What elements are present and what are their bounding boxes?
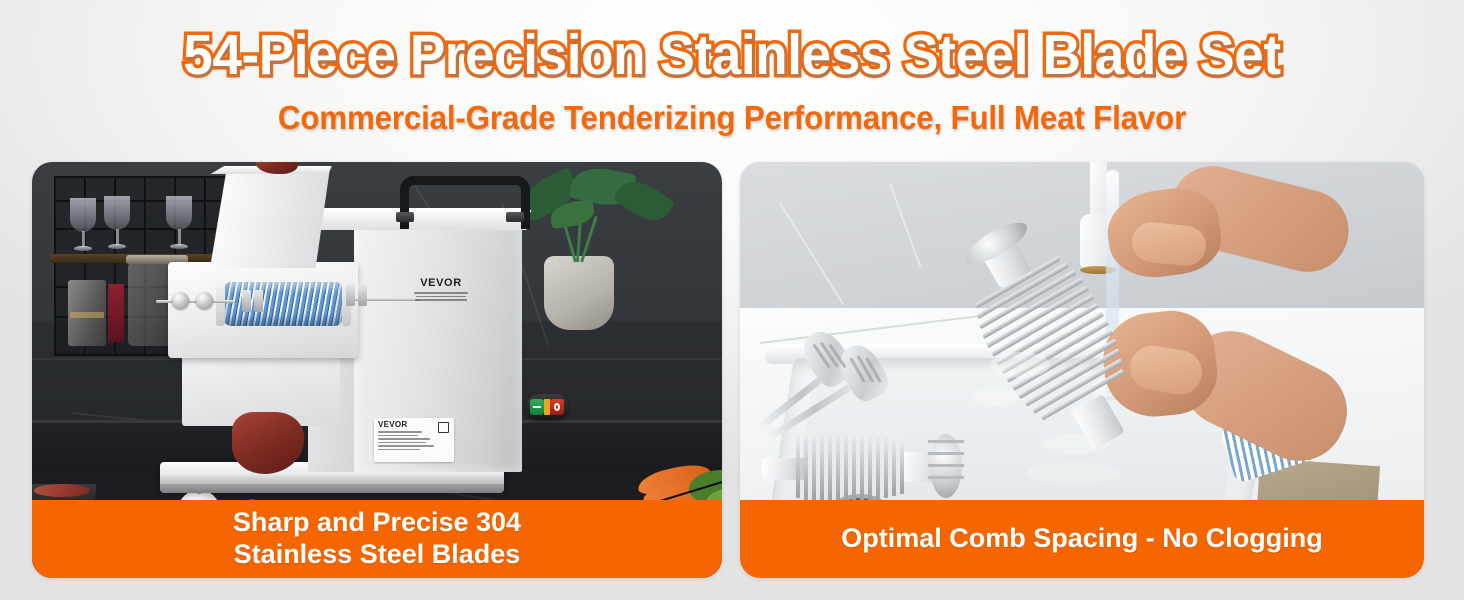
spec-label: VEVOR — [374, 418, 454, 462]
meat-tenderizer-machine: VEVOR VEVOR — [158, 166, 628, 526]
caption-left-line2: Stainless Steel Blades — [234, 539, 521, 569]
power-off-button[interactable] — [550, 399, 564, 415]
power-on-button[interactable] — [530, 399, 544, 415]
wine-glass — [104, 196, 130, 252]
caption-right: Optimal Comb Spacing - No Clogging — [740, 500, 1424, 578]
page-title: 54-Piece Precision Stainless Steel Blade… — [183, 26, 1280, 86]
certification-icon — [438, 422, 449, 433]
page-subtitle: Commercial-Grade Tenderizing Performance… — [37, 99, 1428, 137]
feed-hopper — [210, 168, 330, 268]
wine-glass — [70, 198, 96, 254]
power-switch[interactable] — [526, 394, 568, 419]
storage-tin — [68, 280, 106, 346]
caption-left-line1: Sharp and Precise 304 — [233, 507, 521, 537]
adjust-knob[interactable] — [172, 292, 189, 309]
feature-panel-right: Optimal Comb Spacing - No Clogging — [740, 162, 1424, 578]
feature-panel-left: VEVOR VEVOR — [32, 162, 722, 578]
brand-logo: VEVOR — [410, 278, 472, 303]
caption-left: Sharp and Precise 304 Stainless Steel Bl… — [32, 500, 722, 578]
blade-roller-on-counter — [762, 420, 992, 510]
brand-name: VEVOR — [410, 278, 472, 289]
caption-right-line1: Optimal Comb Spacing - No Clogging — [841, 523, 1322, 555]
adjust-knob[interactable] — [196, 292, 213, 309]
banner-canvas: 54-Piece Precision Stainless Steel Blade… — [0, 0, 1464, 600]
title-block: 54-Piece Precision Stainless Steel Blade… — [0, 26, 1464, 86]
